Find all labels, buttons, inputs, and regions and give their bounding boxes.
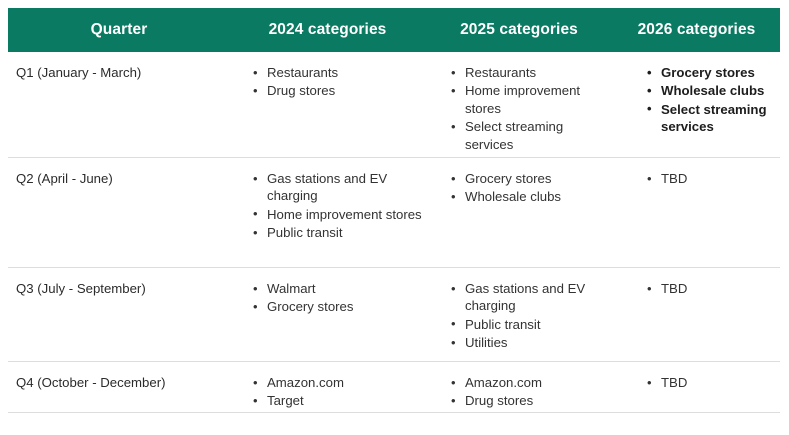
cell-2025-categories: Amazon.comDrug stores — [425, 362, 613, 412]
category-list-item: Drug stores — [253, 82, 425, 99]
category-list-item: TBD — [647, 374, 780, 391]
category-list-item: Walmart — [253, 280, 425, 297]
category-list: Amazon.comTarget — [253, 374, 425, 410]
category-list-item: Select streaming services — [451, 118, 613, 153]
category-list-item: Utilities — [451, 334, 613, 351]
column-header-quarter: Quarter — [8, 21, 230, 38]
category-list-item: Grocery stores — [647, 64, 780, 81]
category-list: Gas stations and EV chargingPublic trans… — [451, 280, 613, 352]
cell-2025-categories: RestaurantsHome improvement storesSelect… — [425, 52, 613, 157]
category-list-item: Restaurants — [451, 64, 613, 81]
cell-quarter: Q4 (October - December) — [8, 362, 230, 412]
column-header-2024-categories: 2024 categories — [230, 21, 425, 38]
category-list-item: Gas stations and EV charging — [253, 170, 425, 205]
table-row: Q2 (April - June)Gas stations and EV cha… — [8, 158, 780, 268]
category-list: Grocery storesWholesale clubs — [451, 170, 613, 206]
category-list-item: Target — [253, 392, 425, 409]
cell-2026-categories: TBD — [613, 268, 780, 361]
category-list-item: Amazon.com — [253, 374, 425, 391]
category-list-item: Grocery stores — [451, 170, 613, 187]
category-list: TBD — [647, 374, 780, 391]
category-list-item: Home improvement stores — [451, 82, 613, 117]
column-header-2025-categories: 2025 categories — [425, 21, 613, 38]
table-row: Q4 (October - December)Amazon.comTargetA… — [8, 362, 780, 413]
category-list-item: Wholesale clubs — [451, 188, 613, 205]
category-list: TBD — [647, 170, 780, 187]
cell-2024-categories: RestaurantsDrug stores — [230, 52, 425, 157]
category-list: RestaurantsDrug stores — [253, 64, 425, 100]
category-list-item: Public transit — [253, 224, 425, 241]
category-list-item: Wholesale clubs — [647, 82, 780, 99]
category-list: Grocery storesWholesale clubsSelect stre… — [647, 64, 780, 136]
category-list: WalmartGrocery stores — [253, 280, 425, 316]
category-list-item: Restaurants — [253, 64, 425, 81]
cell-quarter: Q2 (April - June) — [8, 158, 230, 267]
table-row: Q3 (July - September)WalmartGrocery stor… — [8, 268, 780, 362]
category-list-item: TBD — [647, 280, 780, 297]
category-list-item: Amazon.com — [451, 374, 613, 391]
cell-2026-categories: Grocery storesWholesale clubsSelect stre… — [613, 52, 780, 157]
category-list: TBD — [647, 280, 780, 297]
cell-2024-categories: Gas stations and EV chargingHome improve… — [230, 158, 425, 267]
column-header-2026-categories: 2026 categories — [613, 21, 780, 38]
cell-2026-categories: TBD — [613, 158, 780, 267]
table-body: Q1 (January - March)RestaurantsDrug stor… — [8, 52, 780, 413]
category-list-item: Gas stations and EV charging — [451, 280, 613, 315]
category-list: Gas stations and EV chargingHome improve… — [253, 170, 425, 242]
cell-2025-categories: Gas stations and EV chargingPublic trans… — [425, 268, 613, 361]
cell-2024-categories: Amazon.comTarget — [230, 362, 425, 412]
table-row: Q1 (January - March)RestaurantsDrug stor… — [8, 52, 780, 158]
category-list: Amazon.comDrug stores — [451, 374, 613, 410]
cell-2025-categories: Grocery storesWholesale clubs — [425, 158, 613, 267]
category-list-item: Public transit — [451, 316, 613, 333]
cell-2024-categories: WalmartGrocery stores — [230, 268, 425, 361]
quarterly-categories-table: Quarter 2024 categories 2025 categories … — [8, 8, 780, 413]
cell-quarter: Q3 (July - September) — [8, 268, 230, 361]
category-list-item: Select streaming services — [647, 101, 780, 136]
category-list-item: TBD — [647, 170, 780, 187]
cell-quarter: Q1 (January - March) — [8, 52, 230, 157]
cell-2026-categories: TBD — [613, 362, 780, 412]
category-list-item: Drug stores — [451, 392, 613, 409]
table-header-row: Quarter 2024 categories 2025 categories … — [8, 8, 780, 52]
category-list-item: Home improvement stores — [253, 206, 425, 223]
category-list-item: Grocery stores — [253, 298, 425, 315]
category-list: RestaurantsHome improvement storesSelect… — [451, 64, 613, 153]
